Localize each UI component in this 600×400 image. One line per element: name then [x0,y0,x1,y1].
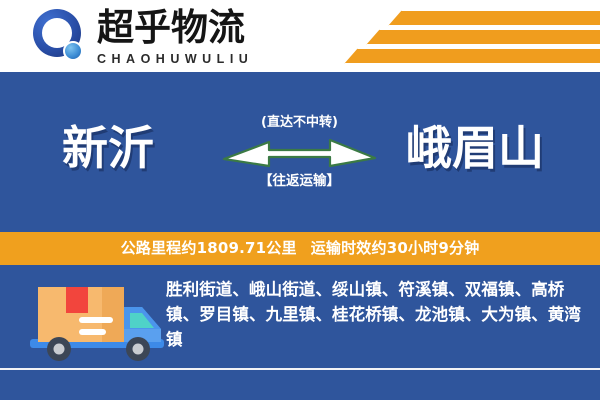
chaohu-circle-logo-icon [33,9,89,65]
destination-city: 峨眉山 [406,119,544,177]
brand-name-en: CHAOHUWULIU [97,51,287,67]
duration-text: 运输时效约30小时9分钟 [311,239,480,257]
stripe-3 [344,48,600,64]
banner-header: 超乎物流 CHAOHUWULIU [0,0,600,72]
covered-towns-list: 胜利街道、峨山街道、绥山镇、符溪镇、双福镇、高桥镇、罗目镇、九里镇、桂花桥镇、龙… [166,277,586,352]
roundtrip-caption: 【往返运输】 [222,172,377,190]
direct-shipping-caption: (直达不中转) [222,114,377,131]
double-headed-arrow-icon [222,136,377,170]
logistics-route-banner: 超乎物流 CHAOHUWULIU 新沂 (直达不中转) 【往返运输】 峨眉山 公… [0,0,600,400]
brand-name-cn: 超乎物流 [97,6,287,50]
stripe-1 [388,10,600,26]
logo-dot-shape [63,41,83,61]
coverage-band: 胜利街道、峨山街道、绥山镇、符溪镇、双福镇、高桥镇、罗目镇、九里镇、桂花桥镇、龙… [0,265,600,400]
route-info-text: 公路里程约1809.71公里运输时效约30小时9分钟 [121,232,480,265]
origin-city: 新沂 [62,119,154,177]
decorative-stripes [330,0,600,72]
route-band: 新沂 (直达不中转) 【往返运输】 峨眉山 [0,72,600,232]
brand-block: 超乎物流 CHAOHUWULIU [97,6,287,67]
route-arrow-group: (直达不中转) 【往返运输】 [222,114,377,194]
bottom-divider [0,368,600,370]
distance-text: 公路里程约1809.71公里 [121,239,297,257]
stripe-2 [366,29,600,45]
route-info-bar: 公路里程约1809.71公里运输时效约30小时9分钟 [0,232,600,265]
delivery-truck-icon [26,277,168,369]
